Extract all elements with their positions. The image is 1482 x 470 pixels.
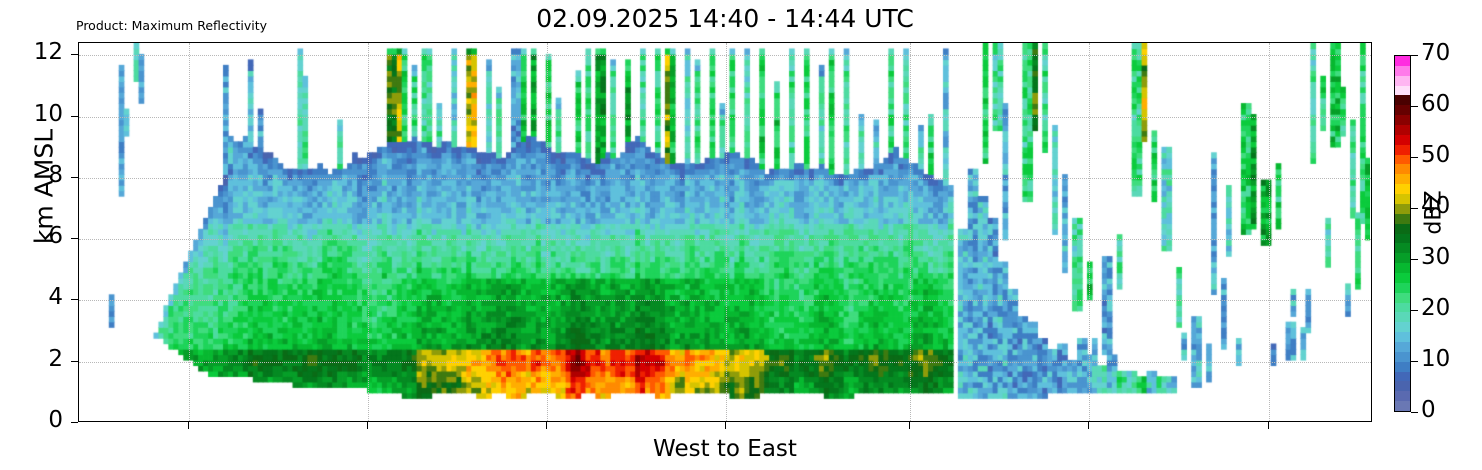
colorbar-tick-mark-10 <box>1411 361 1418 362</box>
colorbar-band-15 <box>1395 253 1410 263</box>
x-tick-mark-2 <box>546 422 547 429</box>
x-tick-mark-5 <box>1088 422 1089 429</box>
radar-cross-section-figure: Product: Maximum Reflectivity 02.09.2025… <box>0 0 1482 470</box>
y-tick-label-6: 6 <box>15 223 63 249</box>
x-tick-mark-4 <box>909 422 910 429</box>
y-tick-mark-6 <box>71 238 78 239</box>
colorbar-band-10 <box>1395 302 1410 312</box>
y-tick-mark-0 <box>71 422 78 423</box>
colorbar-band-30 <box>1395 105 1410 115</box>
colorbar-tick-mark-70 <box>1411 55 1418 56</box>
x-tick-mark-1 <box>367 422 368 429</box>
colorbar-tick-mark-20 <box>1411 310 1418 311</box>
colorbar-band-28 <box>1395 124 1410 134</box>
colorbar-band-3 <box>1395 371 1410 381</box>
colorbar-band-5 <box>1395 351 1410 361</box>
colorbar-band-7 <box>1395 332 1410 342</box>
y-tick-label-2: 2 <box>15 346 63 372</box>
colorbar-band-34 <box>1395 65 1410 75</box>
y-tick-label-12: 12 <box>15 39 63 65</box>
colorbar-band-4 <box>1395 361 1410 371</box>
colorbar-band-1 <box>1395 391 1410 401</box>
colorbar-band-21 <box>1395 193 1410 203</box>
colorbar-band-29 <box>1395 115 1410 125</box>
y-tick-label-4: 4 <box>15 284 63 310</box>
colorbar-band-16 <box>1395 243 1410 253</box>
colorbar-band-20 <box>1395 203 1410 213</box>
x-tick-mark-0 <box>188 422 189 429</box>
colorbar-band-8 <box>1395 322 1410 332</box>
colorbar-band-19 <box>1395 213 1410 223</box>
colorbar-band-33 <box>1395 75 1410 85</box>
page-title: 02.09.2025 14:40 - 14:44 UTC <box>78 4 1372 33</box>
colorbar-tick-label-30: 30 <box>1421 244 1450 270</box>
colorbar-band-6 <box>1395 341 1410 351</box>
y-tick-mark-4 <box>71 299 78 300</box>
colorbar-band-9 <box>1395 312 1410 322</box>
colorbar-band-32 <box>1395 85 1410 95</box>
colorbar-tick-label-70: 70 <box>1421 40 1450 66</box>
y-tick-label-0: 0 <box>15 407 63 433</box>
y-tick-mark-2 <box>71 361 78 362</box>
x-axis-label: West to East <box>78 436 1372 462</box>
colorbar-band-26 <box>1395 144 1410 154</box>
y-tick-label-10: 10 <box>15 101 63 127</box>
plot-area[interactable] <box>78 42 1372 422</box>
colorbar-tick-label-60: 60 <box>1421 91 1450 117</box>
colorbar-tick-mark-30 <box>1411 259 1418 260</box>
colorbar-tick-mark-50 <box>1411 157 1418 158</box>
colorbar-band-0 <box>1395 401 1410 411</box>
colorbar-band-14 <box>1395 263 1410 273</box>
y-tick-label-8: 8 <box>15 162 63 188</box>
colorbar-band-18 <box>1395 223 1410 233</box>
colorbar-tick-mark-40 <box>1411 208 1418 209</box>
colorbar-band-13 <box>1395 272 1410 282</box>
colorbar-band-17 <box>1395 233 1410 243</box>
colorbar-band-22 <box>1395 184 1410 194</box>
colorbar-band-35 <box>1395 55 1410 65</box>
x-tick-mark-3 <box>725 422 726 429</box>
reflectivity-heatmap-canvas <box>79 43 1370 420</box>
colorbar-band-27 <box>1395 134 1410 144</box>
colorbar-band-31 <box>1395 95 1410 105</box>
y-tick-mark-8 <box>71 177 78 178</box>
colorbar-band-2 <box>1395 381 1410 391</box>
colorbar-tick-label-40: 40 <box>1421 193 1450 219</box>
colorbar-band-25 <box>1395 154 1410 164</box>
x-tick-mark-6 <box>1268 422 1269 429</box>
y-tick-mark-12 <box>71 54 78 55</box>
y-tick-mark-10 <box>71 116 78 117</box>
colorbar-tick-mark-0 <box>1411 412 1418 413</box>
colorbar-band-24 <box>1395 164 1410 174</box>
colorbar-tick-label-20: 20 <box>1421 295 1450 321</box>
colorbar-tick-label-10: 10 <box>1421 346 1450 372</box>
colorbar-tick-label-0: 0 <box>1421 397 1436 423</box>
colorbar-band-11 <box>1395 292 1410 302</box>
colorbar-band-23 <box>1395 174 1410 184</box>
colorbar-band-12 <box>1395 282 1410 292</box>
colorbar-tick-mark-60 <box>1411 106 1418 107</box>
colorbar[interactable] <box>1394 55 1411 412</box>
colorbar-tick-label-50: 50 <box>1421 142 1450 168</box>
